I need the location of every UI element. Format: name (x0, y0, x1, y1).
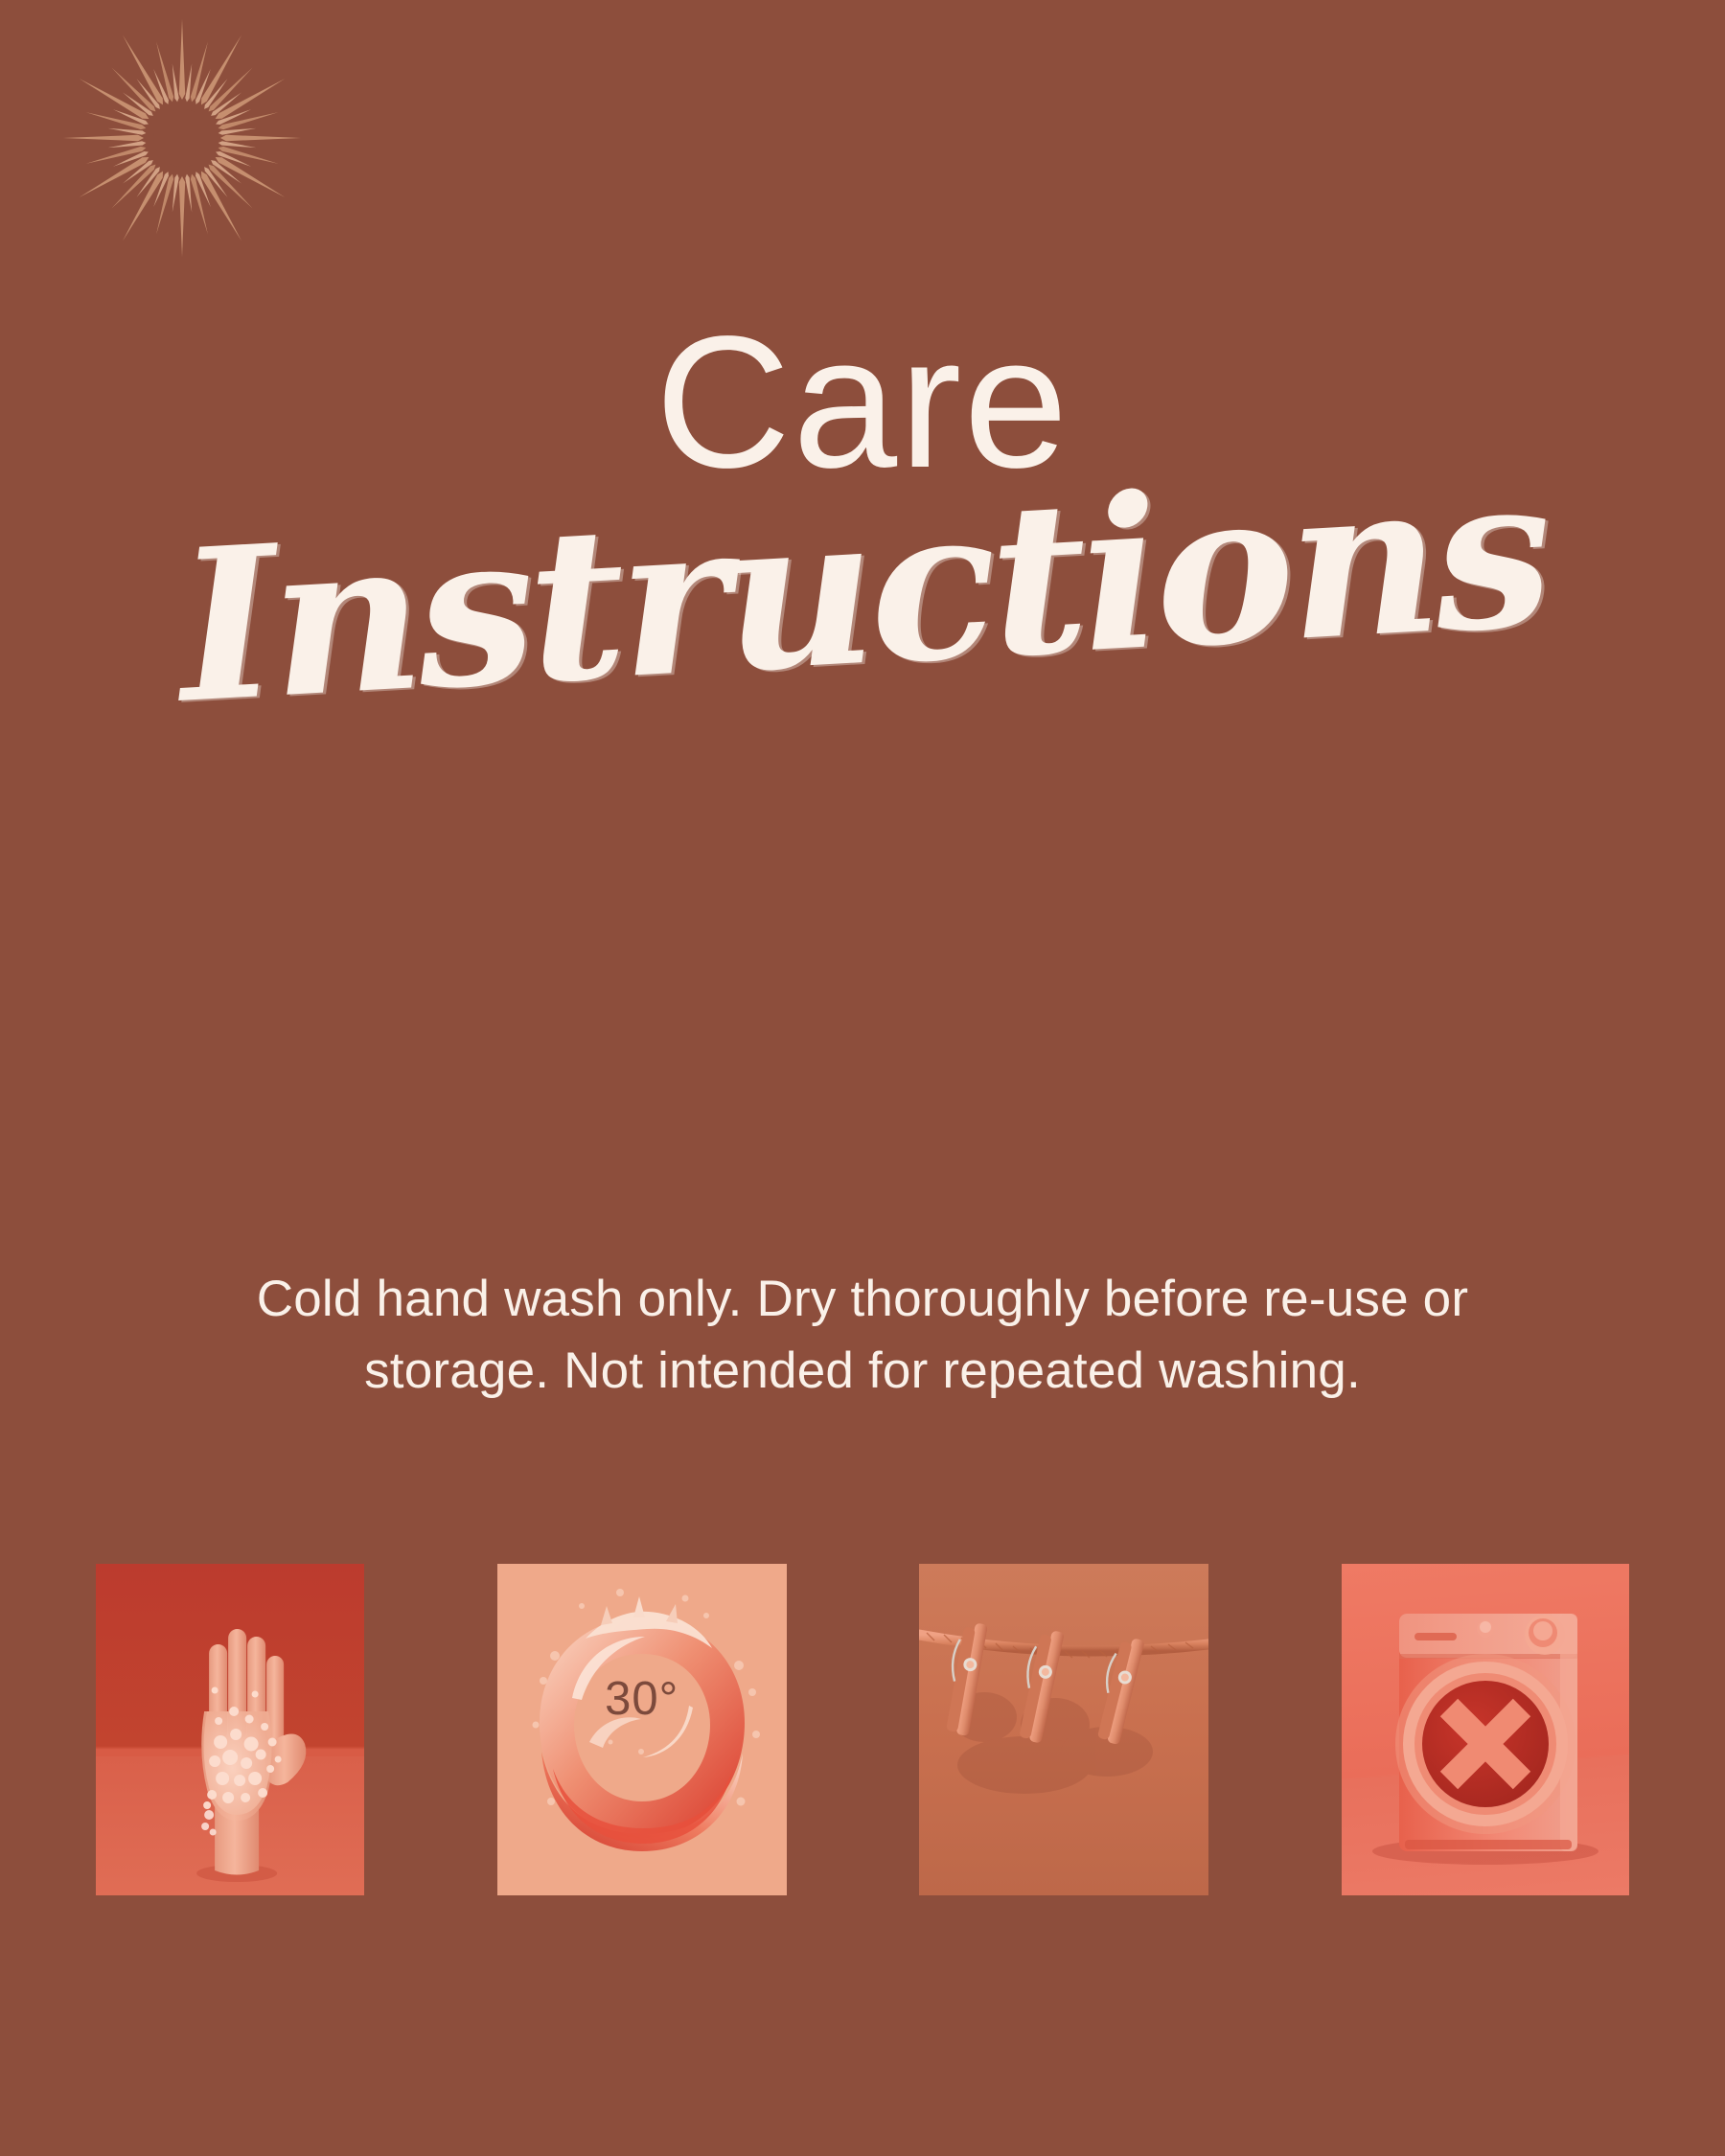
sunburst-icon (57, 13, 307, 263)
page-title: Care Instructions (0, 316, 1725, 697)
no-machine-wash-photo (1342, 1564, 1629, 1895)
water-temperature-photo: 30° (497, 1564, 787, 1895)
clothespins-icon (919, 1564, 1208, 1895)
washing-machine-x-icon (1342, 1564, 1629, 1895)
care-icon-gallery: 30° (96, 1564, 1629, 1895)
line-dry-photo (919, 1564, 1208, 1895)
soapy-hand-icon (151, 1598, 322, 1886)
care-instructions-text: Cold hand wash only. Dry thoroughly befo… (192, 1263, 1533, 1408)
water-swirl-icon (497, 1564, 787, 1895)
temperature-label: 30° (497, 1672, 787, 1726)
care-instructions-poster: Care Instructions Cold hand wash only. D… (0, 0, 1725, 2156)
hand-wash-photo (96, 1564, 364, 1895)
